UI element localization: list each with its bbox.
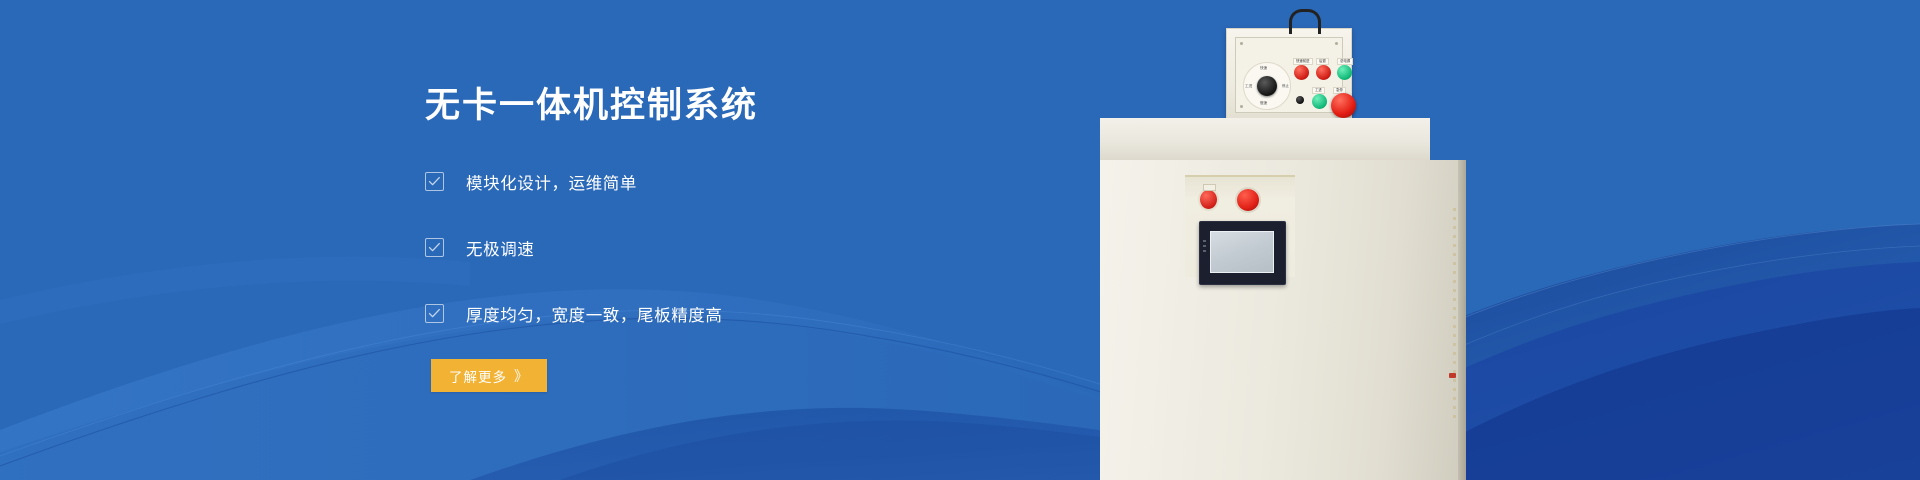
screw-icon (1335, 42, 1338, 45)
control-panel-faceplate: 快速 慢速 工进 停止 快速前进 后退 总电源 工进 急停 (1235, 37, 1343, 113)
cabinet-top-shelf (1100, 118, 1430, 160)
learn-more-button[interactable]: 了解更多 》 (431, 359, 547, 392)
checkbox-checked-icon (425, 238, 444, 257)
list-item: 模块化设计，运维简单 (425, 165, 985, 198)
selector-knob-handle[interactable] (1257, 76, 1277, 96)
knob-label-bottom: 慢速 (1260, 101, 1267, 106)
feature-label: 厚度均匀，宽度一致，尾板精度高 (466, 302, 723, 326)
knob-label-top: 快速 (1260, 66, 1267, 71)
hero-text-column: 无卡一体机控制系统 模块化设计，运维简单 无极调速 (425, 88, 985, 392)
control-cabinet-photo: 快速 慢速 工进 停止 快速前进 后退 总电源 工进 急停 (1100, 0, 1500, 480)
emergency-stop-button[interactable] (1331, 93, 1356, 118)
list-spacer (425, 198, 985, 231)
list-spacer (425, 264, 985, 297)
feature-label: 无极调速 (466, 236, 534, 260)
page-title: 无卡一体机控制系统 (425, 88, 985, 123)
button-red-2[interactable] (1316, 65, 1331, 80)
button-green-1[interactable] (1337, 65, 1352, 80)
hmi-side-buttons-icon (1203, 240, 1206, 254)
list-item: 无极调速 (425, 231, 985, 264)
indicator-red-small[interactable] (1200, 190, 1217, 209)
knob-label-right: 停止 (1282, 84, 1289, 89)
selector-knob-dial[interactable]: 快速 慢速 工进 停止 (1243, 62, 1291, 110)
screw-icon (1240, 42, 1243, 45)
screw-icon (1240, 105, 1243, 108)
checkbox-checked-icon (425, 172, 444, 191)
button-red-1[interactable] (1294, 65, 1309, 80)
double-chevron-right-icon: 》 (514, 366, 529, 386)
control-cable-icon (1289, 9, 1321, 34)
indicator-red-large[interactable] (1237, 189, 1259, 211)
top-control-panel: 快速 慢速 工进 停止 快速前进 后退 总电源 工进 急停 (1226, 28, 1352, 122)
hero-banner: 无卡一体机控制系统 模块化设计，运维简单 无极调速 (0, 0, 1920, 480)
button-green-2[interactable] (1312, 94, 1327, 109)
list-item: 厚度均匀，宽度一致，尾板精度高 (425, 297, 985, 330)
feature-list: 模块化设计，运维简单 无极调速 厚度均匀，宽度一致，尾板精度高 (425, 165, 985, 330)
learn-more-label: 了解更多 (449, 366, 507, 386)
knob-label-left: 工进 (1245, 84, 1252, 89)
cabinet-hinge-strip (1453, 208, 1456, 418)
cabinet-door-lock[interactable] (1449, 373, 1456, 378)
cabinet-body (1100, 160, 1466, 480)
checkbox-checked-icon (425, 304, 444, 323)
hmi-screen-surface[interactable] (1210, 231, 1274, 273)
button-black-small[interactable] (1296, 96, 1304, 104)
cabinet-front-panel (1185, 175, 1295, 277)
feature-label: 模块化设计，运维简单 (466, 170, 637, 194)
hmi-touchscreen[interactable] (1199, 221, 1286, 285)
